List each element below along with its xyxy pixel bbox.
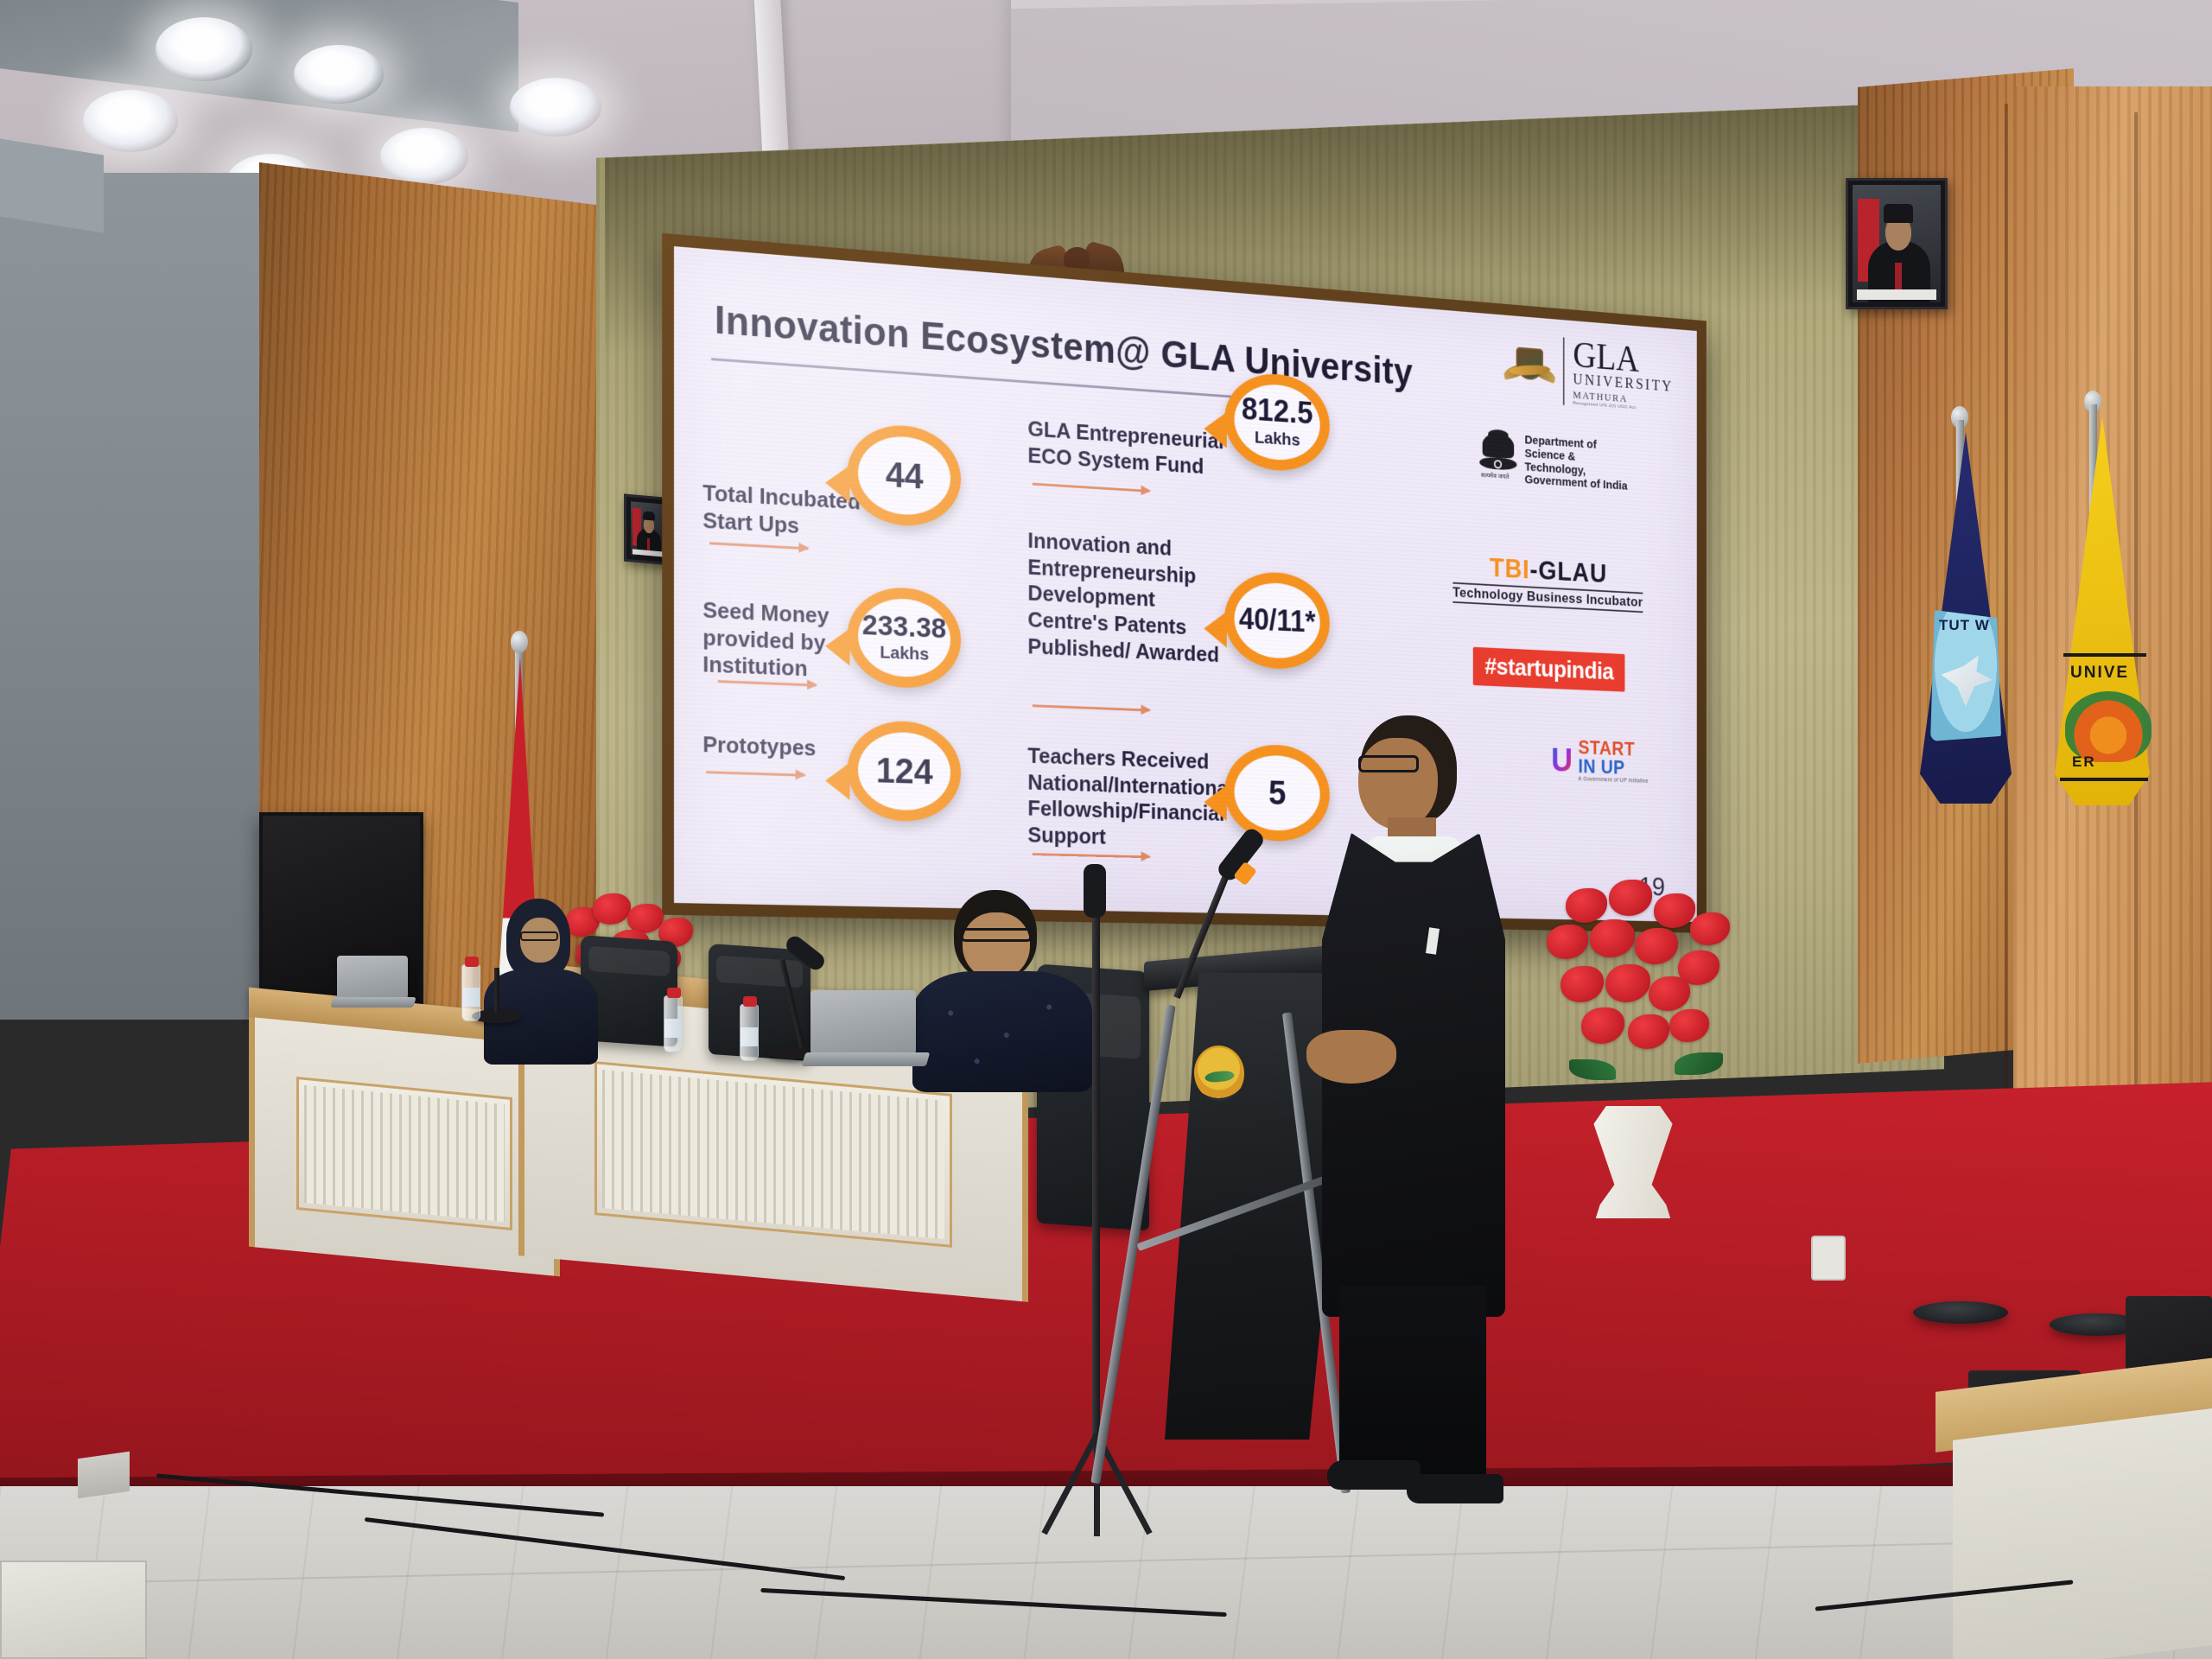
speaker-hands bbox=[1306, 1030, 1396, 1084]
ashoka-pillar-icon: सत्यमेव जयते bbox=[1478, 430, 1518, 482]
downlight-icon bbox=[294, 45, 384, 104]
conference-hall-photo: Innovation Ecosystem@ GLA University Tot… bbox=[0, 0, 2212, 1659]
slide-label-fellowship: Teachers Received National/International… bbox=[1027, 743, 1233, 854]
stat-value: 124 bbox=[876, 753, 933, 790]
glasses-icon bbox=[520, 931, 558, 941]
startup-india-logo: #startupindia bbox=[1473, 647, 1625, 692]
arrow-icon bbox=[1033, 853, 1149, 858]
stat-value: 812.5 bbox=[1242, 393, 1313, 429]
stat-bubble-prototypes: 124 bbox=[848, 719, 961, 823]
laptop-left bbox=[332, 956, 418, 1013]
stage-step-left bbox=[78, 1452, 130, 1498]
stat-unit: Lakhs bbox=[1255, 428, 1300, 450]
glasses-icon bbox=[1358, 755, 1419, 772]
laptop-keyboard bbox=[330, 997, 416, 1007]
official-portrait-right bbox=[1846, 178, 1948, 309]
university-emblem-icon bbox=[1192, 1043, 1247, 1103]
yellow-flag-text: UNIVE bbox=[2070, 664, 2129, 683]
startinup-mark-icon: U bbox=[1551, 743, 1573, 777]
slide-label-eco-system-fund: GLA Entrepreneurial ECO System Fund bbox=[1027, 416, 1224, 481]
stat-value: 5 bbox=[1268, 776, 1286, 810]
tbi-prefix: TBI bbox=[1490, 552, 1529, 584]
water-bottle bbox=[664, 995, 683, 1052]
yellow-flag-stripe bbox=[2063, 653, 2146, 657]
table-decor-panel bbox=[296, 1077, 512, 1230]
stat-value: 40/11* bbox=[1239, 604, 1316, 637]
flag-stand-base bbox=[1913, 1301, 2008, 1324]
downlight-icon bbox=[510, 78, 601, 137]
speaker-shoe bbox=[1407, 1474, 1503, 1503]
batik-pattern bbox=[921, 985, 1085, 1085]
laptop-macbook bbox=[804, 990, 933, 1077]
navy-flag-text: TUT W bbox=[1939, 617, 1990, 634]
startinup-line2: IN UP bbox=[1579, 758, 1649, 779]
startup-india-text: #startupindia bbox=[1484, 653, 1613, 685]
speaker-at-podium bbox=[1313, 715, 1512, 1484]
tbi-glau-logo: TBI-GLAU Technology Business Incubator bbox=[1452, 550, 1643, 613]
red-flower-arrangement-right bbox=[1543, 880, 1742, 1113]
slide-title: Innovation Ecosystem@ GLA University bbox=[715, 296, 1413, 394]
dst-government-india-logo: सत्यमेव जयते Department of Science & Tec… bbox=[1478, 430, 1630, 493]
water-bottle bbox=[740, 1004, 759, 1061]
laptop-keyboard bbox=[802, 1052, 931, 1066]
water-bottle bbox=[461, 964, 480, 1021]
microphone-stand-pole bbox=[1092, 890, 1100, 1452]
downlight-icon bbox=[380, 128, 468, 185]
left-grey-wall bbox=[0, 173, 285, 1020]
stat-bubble-patents: 40/11* bbox=[1224, 569, 1330, 671]
satyameva-jayate-text: सत्यमेव जयते bbox=[1481, 471, 1509, 481]
laptop-lid bbox=[810, 990, 916, 1054]
arrow-icon bbox=[1033, 483, 1149, 493]
glasses-icon bbox=[961, 928, 1032, 942]
downlight-icon bbox=[83, 90, 178, 152]
stat-bubble-total-incubated: 44 bbox=[848, 422, 961, 528]
arrow-icon bbox=[1033, 704, 1149, 711]
downlight-icon bbox=[156, 17, 252, 81]
stat-value: 233.38 bbox=[862, 610, 947, 643]
table-decor-panel bbox=[594, 1062, 953, 1248]
tiled-floor bbox=[0, 1486, 2212, 1659]
stat-bubble-seed-money: 233.38 Lakhs bbox=[848, 585, 961, 690]
panelist-seated-center bbox=[912, 890, 1094, 1089]
slide-label-seed-money: Seed Money provided by Institution bbox=[702, 597, 829, 684]
desk-front bbox=[1953, 1404, 2212, 1659]
gla-crest-icon bbox=[1503, 345, 1556, 393]
left-grey-wall-top bbox=[0, 138, 104, 232]
microphone-head bbox=[1084, 864, 1106, 918]
slide-surface: Innovation Ecosystem@ GLA University Tot… bbox=[674, 246, 1697, 922]
projection-screen: Innovation Ecosystem@ GLA University Tot… bbox=[674, 246, 1697, 922]
stat-unit: Lakhs bbox=[880, 642, 929, 664]
panel-seam bbox=[2005, 104, 2008, 1262]
dst-logo-text: Department of Science & Technology, Gove… bbox=[1525, 434, 1630, 494]
table-microphone-neck bbox=[494, 968, 499, 1013]
flagpole-knob-icon bbox=[511, 631, 528, 653]
side-desk-right bbox=[1935, 1374, 2212, 1659]
slide-label-patents: Innovation and Entrepreneurship Developm… bbox=[1027, 527, 1219, 668]
yellow-flag-stripe bbox=[2060, 778, 2148, 781]
speaker-face bbox=[1358, 738, 1438, 829]
yellow-flag-text-bottom: ER bbox=[2072, 753, 2096, 771]
laptop-lid bbox=[337, 956, 408, 999]
gla-university-logo: GLA UNIVERSITY MATHURA Recognized U/S 2(… bbox=[1503, 333, 1674, 414]
wall-socket bbox=[1811, 1236, 1846, 1281]
tbi-suffix: -GLAU bbox=[1530, 555, 1607, 588]
stat-value: 44 bbox=[886, 457, 924, 495]
panel-chair bbox=[709, 944, 810, 1061]
rice-wheat-emblem-icon bbox=[2065, 691, 2152, 762]
slide-label-prototypes: Prototypes bbox=[702, 731, 816, 762]
startinup-line3: A Government of UP Initiative bbox=[1579, 777, 1649, 785]
person-face bbox=[963, 912, 1030, 980]
speaker-trousers bbox=[1339, 1286, 1486, 1484]
startinup-logo: U START IN UP A Government of UP Initiat… bbox=[1551, 738, 1649, 785]
arrow-icon bbox=[706, 771, 804, 777]
floor-box-left bbox=[0, 1560, 147, 1659]
arrow-icon bbox=[709, 542, 808, 550]
